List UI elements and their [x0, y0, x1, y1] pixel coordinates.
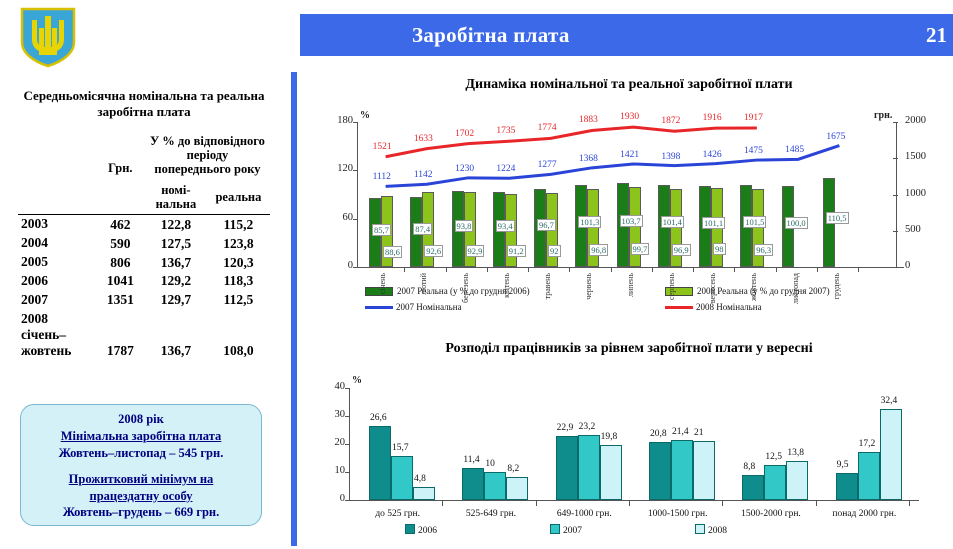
line-label-2007: 1475 [744, 146, 763, 156]
bar-value-label: 10 [485, 459, 495, 469]
y-axis-tick-label: 60 [329, 212, 353, 223]
y2-axis-tick-label: 2000 [905, 115, 926, 126]
row-year: 2007 [18, 291, 96, 310]
bar-2006 [462, 468, 484, 500]
row-uah: 462 [96, 215, 145, 234]
line-label-2007: 1142 [414, 170, 433, 180]
subheader-empty [18, 180, 96, 215]
legend-item: 2006 [405, 524, 437, 536]
bar-label-2008: 96,9 [672, 244, 691, 256]
line-label-2007: 1368 [579, 154, 598, 164]
bar-value-label: 13,8 [787, 448, 804, 458]
y-axis-tick-label: 0 [323, 493, 345, 504]
y2-axis-unit-label: грн. [874, 110, 892, 121]
month-tick-label: травень [543, 273, 552, 299]
y2-axis-tick-label: 0 [905, 260, 910, 271]
bar-value-label: 9,5 [837, 460, 849, 470]
row-nominal: 136,7 [145, 310, 207, 361]
chart1-title: Динаміка номінальної та реальної заробіт… [305, 76, 953, 94]
bar-label-2008: 92 [548, 245, 561, 257]
month-tick-label: червень [584, 273, 593, 300]
legend-label: 2008 [708, 526, 727, 536]
legend-swatch [365, 306, 393, 309]
bar-value-label: 20,8 [650, 429, 667, 439]
row-year: 2005 [18, 253, 96, 272]
bar-label-2007: 96,7 [537, 219, 556, 231]
bar-label-2008: 98 [713, 243, 726, 255]
bar-label-2007: 103,7 [620, 215, 643, 227]
bar-label-2007: 101,3 [578, 216, 601, 228]
bar-label-2007: 85,7 [372, 224, 391, 236]
bar-2008 [600, 445, 622, 500]
table-header-row: Грн. У % до відповідного періоду поперед… [18, 131, 270, 180]
y-axis-tick-label: 40 [323, 381, 345, 392]
bar-2008 [506, 477, 528, 500]
row-nominal: 129,2 [145, 272, 207, 291]
bar-label-2008: 91,2 [507, 245, 526, 257]
ukraine-coat-of-arms-icon [19, 6, 77, 68]
line-label-2008: 1774 [538, 123, 557, 133]
y-axis-unit-label: % [360, 110, 370, 121]
bar-value-label: 15,7 [392, 443, 409, 453]
header-empty [18, 131, 96, 180]
chart2-title: Розподіл працівників за рівнем заробітно… [305, 340, 953, 358]
page-number: 21 [926, 23, 947, 48]
line-label-2008: 1917 [744, 113, 763, 123]
bar-label-2007: 100,0 [785, 217, 808, 229]
bar-label-2008: 88,6 [383, 246, 402, 258]
y-axis-tick-label: 30 [323, 409, 345, 420]
legend-item: 2008 [695, 524, 727, 536]
row-nominal: 129,7 [145, 291, 207, 310]
legend-item: 2008 Номінальна [665, 302, 762, 312]
chart-wage-distribution: Розподіл працівників за рівнем заробітно… [305, 340, 953, 549]
bar-2008 [880, 409, 902, 500]
header-percent-group: У % до відповідного періоду попереднього… [145, 131, 270, 180]
row-uah: 1351 [96, 291, 145, 310]
info-line-6: Жовтень–грудень – 669 грн. [21, 504, 261, 521]
bar-value-label: 8,2 [507, 464, 519, 474]
bar-label-2007: 110,5 [826, 212, 849, 224]
month-tick-label: грудень [832, 273, 841, 299]
month-tick-label: жовтень [749, 273, 758, 301]
line-label-2007: 1426 [703, 150, 722, 160]
row-real: 108,0 [207, 310, 270, 361]
row-uah: 806 [96, 253, 145, 272]
bar-value-label: 4,8 [414, 474, 426, 484]
bar-label-2008: 99,7 [631, 243, 650, 255]
bar-value-label: 21 [694, 428, 704, 438]
row-real: 112,5 [207, 291, 270, 310]
bar-label-2007: 87,4 [413, 223, 432, 235]
info-line-4: Прожитковий мінімум на [21, 471, 261, 488]
bar-2007 [391, 456, 413, 500]
table-row: 2004 590 127,5 123,8 [18, 234, 270, 253]
bar-label-2007: 101,1 [702, 217, 725, 229]
bar-value-label: 22,9 [557, 423, 574, 433]
table-row: 2008 січень–жовтень 1787 136,7 108,0 [18, 310, 270, 361]
line-label-2008: 1633 [414, 134, 433, 144]
month-tick-label: березень [461, 273, 470, 303]
category-label: до 525 грн. [351, 509, 444, 519]
month-tick-label: січень [378, 273, 387, 294]
row-real: 115,2 [207, 215, 270, 234]
row-year: 2008 січень–жовтень [18, 310, 96, 361]
chart2-plot-area [357, 388, 917, 500]
table-row: 2005 806 136,7 120,3 [18, 253, 270, 272]
bar-value-label: 32,4 [881, 396, 898, 406]
bar-2006 [369, 426, 391, 500]
line-label-2007: 1224 [496, 164, 515, 174]
legend-label: 2006 [418, 526, 437, 536]
bar-2006 [836, 473, 858, 500]
subheader-nominal: номі-нальна [145, 180, 207, 215]
y-axis-tick-label: 10 [323, 465, 345, 476]
category-label: 649-1000 грн. [538, 509, 631, 519]
bar-value-label: 11,4 [463, 455, 479, 465]
legend-item: 2007 [550, 524, 582, 536]
bar-2006 [649, 442, 671, 500]
y-axis-tick-label: 0 [329, 260, 353, 271]
bar-label-2008: 92,6 [424, 245, 443, 257]
legend-item: 2008 Реальна (у % до грудня 2007) [665, 286, 830, 296]
line-label-2008: 1883 [579, 115, 598, 125]
line-label-2007: 1112 [373, 172, 391, 182]
line-label-2007: 1675 [826, 132, 845, 142]
legend-label: 2007 [563, 526, 582, 536]
row-real: 123,8 [207, 234, 270, 253]
bar-label-2007: 101,4 [661, 216, 684, 228]
line-label-2007: 1230 [455, 164, 474, 174]
y2-axis-tick-label: 500 [905, 224, 921, 235]
legend-swatch [405, 524, 415, 534]
category-label: 525-649 грн. [444, 509, 537, 519]
legend-swatch [695, 524, 705, 534]
header-uah: Грн. [96, 131, 145, 180]
header-bar: Заробітна плата 21 [300, 14, 953, 56]
row-real: 118,3 [207, 272, 270, 291]
line-label-2007: 1485 [785, 145, 804, 155]
info-line-2: Мінімальна заробітна плата [21, 428, 261, 445]
row-nominal: 136,7 [145, 253, 207, 272]
wages-table: Грн. У % до відповідного періоду поперед… [18, 131, 270, 361]
month-tick-label: квітень [502, 273, 511, 298]
bar-2007 [764, 465, 786, 500]
row-real: 120,3 [207, 253, 270, 272]
page-title: Заробітна плата [412, 23, 570, 48]
bar-value-label: 26,6 [370, 413, 387, 423]
row-uah: 1041 [96, 272, 145, 291]
subheader-uah-empty [96, 180, 145, 215]
y2-axis-tick-label: 1000 [905, 188, 926, 199]
bar-2008 [786, 461, 808, 500]
row-year: 2004 [18, 234, 96, 253]
bar-2008 [413, 487, 435, 500]
legend-label: 2008 Номінальна [696, 302, 762, 312]
line-label-2007: 1277 [538, 160, 557, 170]
category-label: 1000-1500 грн. [631, 509, 724, 519]
row-year: 2006 [18, 272, 96, 291]
info-spacer [21, 462, 261, 471]
legend-swatch [665, 306, 693, 309]
table-row: 2006 1041 129,2 118,3 [18, 272, 270, 291]
table-row: 2007 1351 129,7 112,5 [18, 291, 270, 310]
y-axis-tick-label: 120 [329, 163, 353, 174]
month-tick-label: липень [626, 273, 635, 297]
table-title: Середньомісячна номінальна та реальна за… [0, 88, 288, 121]
bar-2008 [693, 441, 715, 500]
month-tick-label: листопад [791, 273, 800, 304]
table-row: 2003 462 122,8 115,2 [18, 215, 270, 234]
row-year: 2003 [18, 215, 96, 234]
row-uah: 590 [96, 234, 145, 253]
line-label-2007: 1398 [661, 152, 680, 162]
row-nominal: 127,5 [145, 234, 207, 253]
month-tick-label: лютий [419, 273, 428, 295]
line-label-2007: 1421 [620, 150, 639, 160]
bar-2006 [742, 475, 764, 500]
row-uah: 1787 [96, 310, 145, 361]
chart-wage-dynamics: Динаміка номінальної та реальної заробіт… [305, 76, 953, 326]
bar-2007 [578, 435, 600, 500]
bar-value-label: 21,4 [672, 427, 689, 437]
bar-label-2008: 92,9 [466, 245, 485, 257]
table-subheader-row: номі-нальна реальна [18, 180, 270, 215]
bar-value-label: 8,8 [743, 462, 755, 472]
legend-item: 2007 Номінальна [365, 302, 462, 312]
line-label-2008: 1702 [455, 129, 474, 139]
info-line-1: 2008 рік [21, 411, 261, 428]
month-tick-label: серпень [667, 273, 676, 300]
y-axis-tick-label: 180 [329, 115, 353, 126]
info-line-5: працездатну особу [21, 488, 261, 505]
y-axis-tick-label: 20 [323, 437, 345, 448]
info-box: 2008 рік Мінімальна заробітна плата Жовт… [20, 404, 262, 526]
bar-label-2008: 96,3 [754, 244, 773, 256]
legend-swatch [550, 524, 560, 534]
bar-value-label: 17,2 [859, 439, 876, 449]
line-label-2008: 1872 [661, 116, 680, 126]
bar-value-label: 12,5 [765, 452, 782, 462]
bar-label-2008: 96,8 [589, 244, 608, 256]
row-nominal: 122,8 [145, 215, 207, 234]
bar-2007 [858, 452, 880, 500]
legend-label: 2007 Номінальна [396, 302, 462, 312]
line-label-2008: 1521 [373, 142, 392, 152]
subheader-real: реальна [207, 180, 270, 215]
category-label: 1500-2000 грн. [724, 509, 817, 519]
bar-label-2007: 93,4 [496, 220, 515, 232]
line-label-2008: 1735 [496, 126, 515, 136]
bar-value-label: 19,8 [601, 432, 618, 442]
bar-label-2007: 93,8 [455, 220, 474, 232]
category-label: понад 2000 грн. [818, 509, 911, 519]
month-tick-label: вересень [708, 273, 717, 303]
line-label-2008: 1930 [620, 112, 639, 122]
bar-2007 [484, 472, 506, 500]
bar-label-2007: 101,5 [743, 216, 766, 228]
section-divider [291, 72, 297, 546]
line-label-2008: 1916 [703, 113, 722, 123]
y-axis-unit-label: % [352, 375, 362, 386]
info-line-3: Жовтень–листопад – 545 грн. [21, 445, 261, 462]
bar-2006 [556, 436, 578, 500]
left-column: Середньомісячна номінальна та реальна за… [0, 88, 288, 360]
bar-2007 [671, 440, 693, 500]
y2-axis-tick-label: 1500 [905, 151, 926, 162]
bar-value-label: 23,2 [579, 422, 596, 432]
